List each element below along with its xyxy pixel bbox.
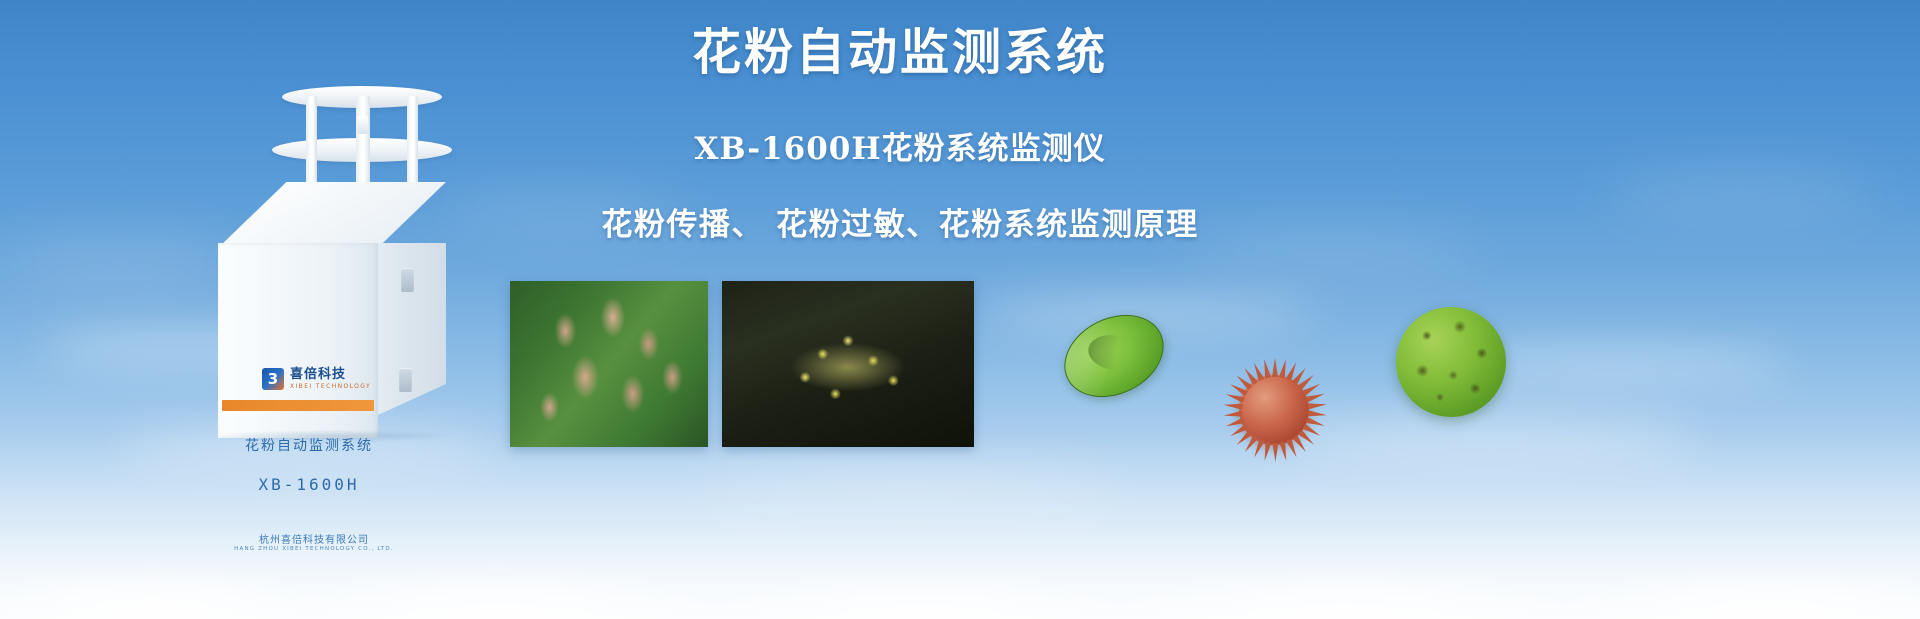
pollen-monitor-device: 喜倍科技 XIBEI TECHNOLOGY 花粉自动监测系统 XB-1600H … <box>196 78 466 438</box>
xibei-brand-logo: 喜倍科技 XIBEI TECHNOLOGY <box>262 368 371 390</box>
product-subtitle: XB-1600H花粉系统监测仪 <box>560 123 1240 168</box>
pollen-spike-icon <box>1308 410 1328 418</box>
pollen-spike-icon <box>1272 443 1278 462</box>
device-base-shadow <box>216 430 456 442</box>
cloud-wisp <box>700 470 1120 510</box>
page-title: 花粉自动监测系统 <box>560 26 1240 81</box>
cloud-wisp <box>1600 180 1880 204</box>
cabinet-top-face <box>218 182 446 248</box>
pollen-spike-icon <box>1223 402 1243 410</box>
catkin-pollen-photo <box>722 281 974 447</box>
brand-name-cn: 喜倍科技 <box>290 368 371 382</box>
device-company-en: HANG ZHOU XIBEI TECHNOLOGY CO., LTD. <box>218 546 410 552</box>
cabinet-latch-icon <box>399 368 412 392</box>
cloud-wisp <box>1280 420 1700 458</box>
inlet-mast <box>407 96 418 196</box>
cypress-pollen-cones-photo <box>510 281 708 447</box>
inlet-mast <box>306 96 317 196</box>
green-spotted-pollen-grain <box>1396 307 1506 417</box>
device-model-number: XB-1600H <box>218 475 400 494</box>
pollen-spike-icon <box>1308 401 1328 409</box>
headline-block: 花粉自动监测系统 XB-1600H花粉系统监测仪 花粉传播、 花粉过敏、花粉系统… <box>560 26 1240 244</box>
xibei-logo-mark-icon <box>262 368 284 390</box>
green-ellipsoid-pollen-grain <box>1051 299 1178 413</box>
horizon-cloud-bank <box>0 429 1920 619</box>
sampler-inlet-nub <box>357 116 368 134</box>
device-company-cn: 杭州喜倍科技有限公司 <box>218 531 410 546</box>
topic-tagline: 花粉传播、 花粉过敏、花粉系统监测原理 <box>560 199 1240 244</box>
brand-name-en: XIBEI TECHNOLOGY <box>290 383 371 390</box>
pollen-monitoring-banner: 喜倍科技 XIBEI TECHNOLOGY 花粉自动监测系统 XB-1600H … <box>0 0 1920 619</box>
brand-text-block: 喜倍科技 XIBEI TECHNOLOGY <box>290 368 371 389</box>
pollen-spike-icon <box>1272 358 1278 377</box>
red-spiky-pollen-grain <box>1222 358 1326 462</box>
cabinet-latch-icon <box>401 268 414 292</box>
orange-accent-strip <box>222 400 374 411</box>
